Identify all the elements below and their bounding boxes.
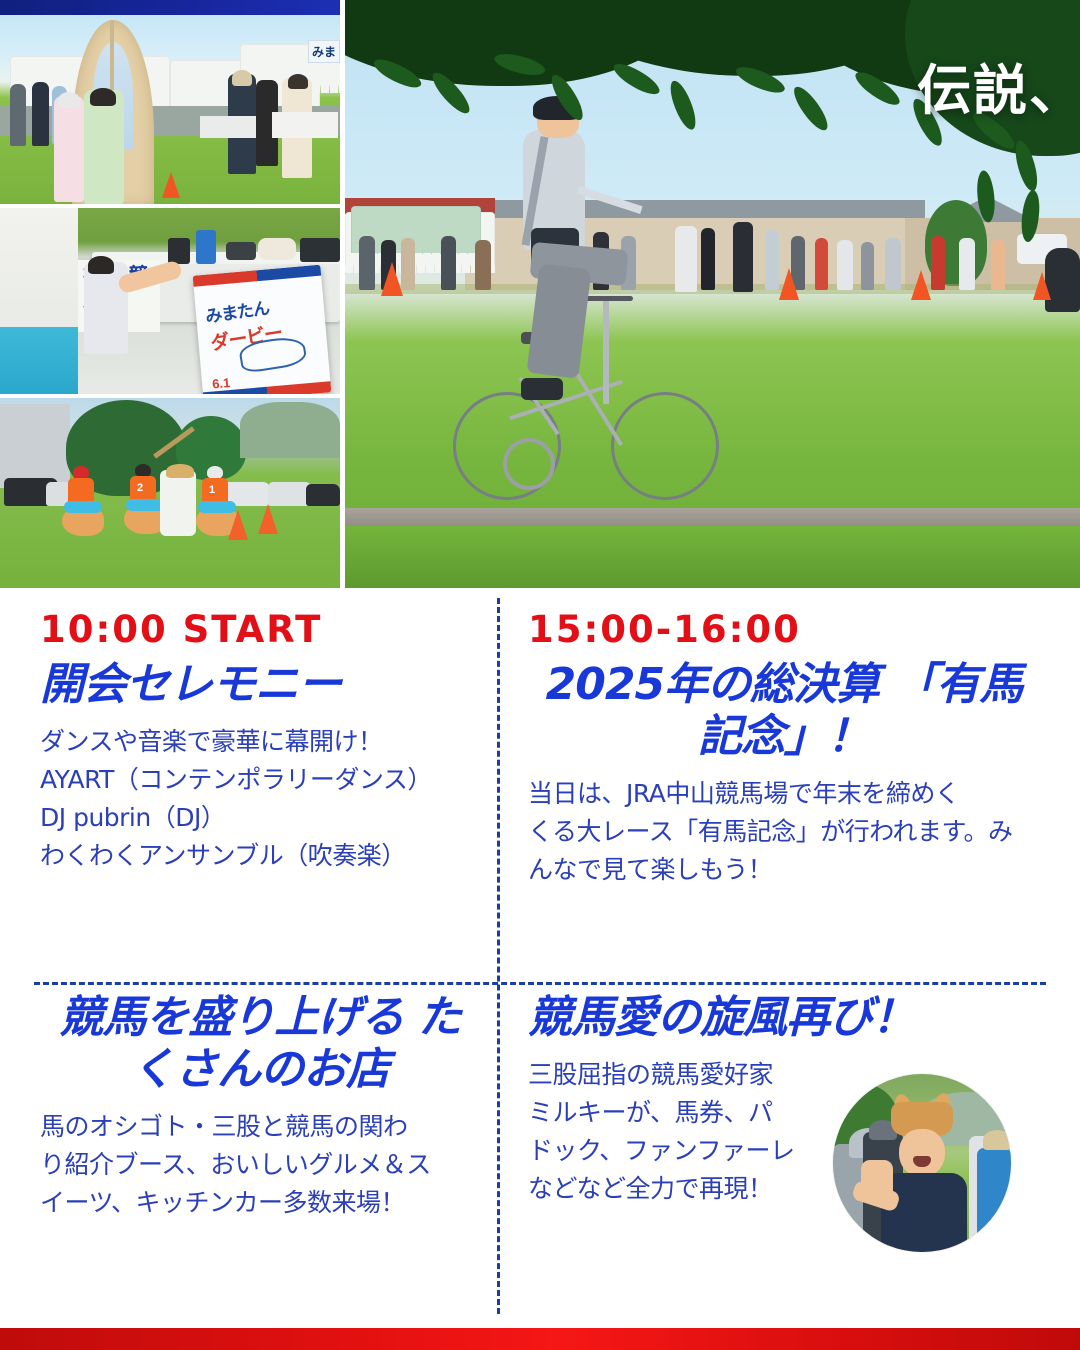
info-grid: 10:00 START 開会セレモニー ダンスや音楽で豪華に幕開け！ AYART… bbox=[0, 588, 1080, 1328]
body-line: ダンスや音楽で豪華に幕開け！ bbox=[40, 723, 480, 761]
panel-heading: 競馬愛の旋風再び！ bbox=[528, 992, 1040, 1044]
body-line: DJ pubrin（DJ） bbox=[40, 799, 480, 837]
panel-opening-ceremony: 10:00 START 開会セレモニー ダンスや音楽で豪華に幕開け！ AYART… bbox=[40, 610, 480, 875]
panel-heading: 2025年の総決算 「有馬記念」！ bbox=[528, 659, 1040, 763]
bib-number: 2 bbox=[137, 482, 143, 494]
body-line: ドック、ファンファーレ bbox=[528, 1132, 828, 1170]
panel-body: 三股屈指の競馬愛好家 ミルキーが、馬券、パ ドック、ファンファーレ などなど全力… bbox=[528, 1056, 828, 1208]
milky-portrait-photo bbox=[833, 1074, 1011, 1252]
body-line: わくわくアンサンブル（吹奏楽） bbox=[40, 837, 480, 875]
bottom-red-bar bbox=[0, 1328, 1080, 1350]
panel-heading: 競馬を盛り上げる たくさんのお店 bbox=[40, 992, 480, 1096]
poster-date: 6.1 bbox=[212, 375, 231, 392]
body-line: などなど全力で再現！ bbox=[528, 1170, 828, 1208]
panel-time: 15:00-16:00 bbox=[528, 610, 1040, 651]
body-line: り紹介ブース、おいしいグルメ＆ス bbox=[40, 1146, 480, 1184]
horse-costume-race-photo: 2 1 bbox=[0, 398, 340, 588]
heading-line: 競馬を盛り上げる bbox=[59, 992, 403, 1043]
panel-body: 馬のオシゴト・三股と競馬の関わ り紹介ブース、おいしいグルメ＆ス イーツ、キッチ… bbox=[40, 1108, 480, 1222]
vertical-divider bbox=[497, 598, 500, 1314]
bib-number: 1 bbox=[209, 484, 215, 496]
body-line: 当日は、JRA中山競馬場で年末を締めく bbox=[528, 775, 1040, 813]
panel-milky: 競馬愛の旋風再び！ 三股屈指の競馬愛好家 ミルキーが、馬券、パ ドック、ファンフ… bbox=[528, 992, 1040, 1208]
body-line: ミルキーが、馬券、パ bbox=[528, 1094, 828, 1132]
panel-body: 当日は、JRA中山競馬場で年末を締めく くる大レース「有馬記念」が行われます。み… bbox=[528, 775, 1040, 889]
panel-time: 10:00 START bbox=[40, 610, 480, 651]
racer-1 bbox=[62, 478, 106, 538]
panel-shops: 競馬を盛り上げる たくさんのお店 馬のオシゴト・三股と競馬の関わ り紹介ブース、… bbox=[40, 992, 480, 1222]
top-blue-bar bbox=[0, 0, 340, 15]
hero-headline: 伝説、目撃すべし。 bbox=[917, 46, 1080, 125]
body-line: イーツ、キッチンカー多数来場！ bbox=[40, 1184, 480, 1222]
left-photo-column: みま bbox=[0, 0, 340, 588]
hero-photo: 伝説、目撃すべし。 bbox=[345, 0, 1080, 588]
body-line: 馬のオシゴト・三股と競馬の関わ bbox=[40, 1108, 480, 1146]
mimatan-derby-poster-booth-photo: 祝 央競馬 みまたん ダービー 6.1 bbox=[0, 208, 340, 394]
body-line: んなで見て楽しもう！ bbox=[528, 851, 1040, 889]
booth-sign: みま bbox=[308, 40, 340, 63]
festival-tents-and-kids-photo: みま bbox=[0, 0, 340, 204]
panel-heading: 開会セレモニー bbox=[40, 659, 480, 711]
horizontal-divider bbox=[34, 982, 1046, 985]
tree-canopy bbox=[345, 0, 1080, 286]
mimatan-derby-poster: みまたん ダービー 6.1 bbox=[193, 265, 332, 394]
body-line: 三股屈指の競馬愛好家 bbox=[528, 1056, 828, 1094]
body-line: AYART（コンテンポラリーダンス） bbox=[40, 761, 480, 799]
panel-body: ダンスや音楽で豪華に幕開け！ AYART（コンテンポラリーダンス） DJ pub… bbox=[40, 723, 480, 875]
body-line: くる大レース「有馬記念」が行われます。み bbox=[528, 813, 1040, 851]
photo-collage: みま bbox=[0, 0, 1080, 588]
heading-line: 2025年の総決算 bbox=[546, 659, 879, 710]
panel-arima-kinen: 15:00-16:00 2025年の総決算 「有馬記念」！ 当日は、JRA中山競… bbox=[528, 610, 1040, 889]
